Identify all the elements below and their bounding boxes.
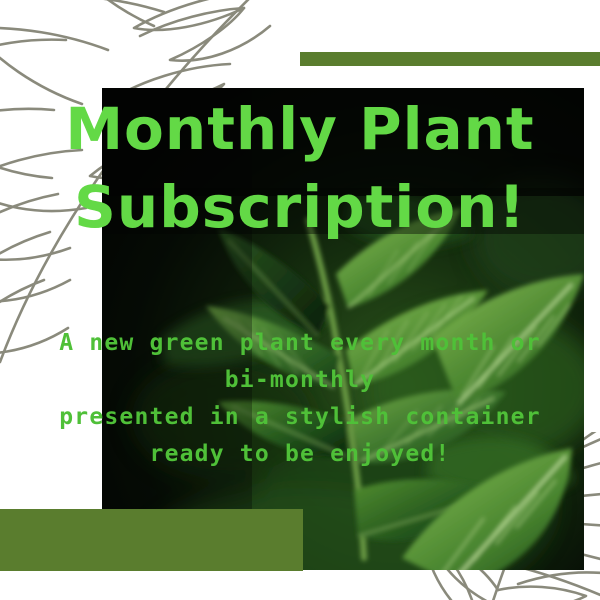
body-line-1: A new green plant every month or <box>0 332 600 355</box>
headline-line-1: Monthly Plant <box>0 100 600 158</box>
body-line-4: ready to be enjoyed! <box>0 443 600 466</box>
headline-line-2: Subscription! <box>0 178 600 236</box>
text-layer: Monthly Plant Subscription! A new green … <box>0 0 600 600</box>
body-line-2: bi-monthly <box>0 369 600 392</box>
poster-canvas: Monthly Plant Subscription! A new green … <box>0 0 600 600</box>
body-line-3: presented in a stylish container <box>0 406 600 429</box>
